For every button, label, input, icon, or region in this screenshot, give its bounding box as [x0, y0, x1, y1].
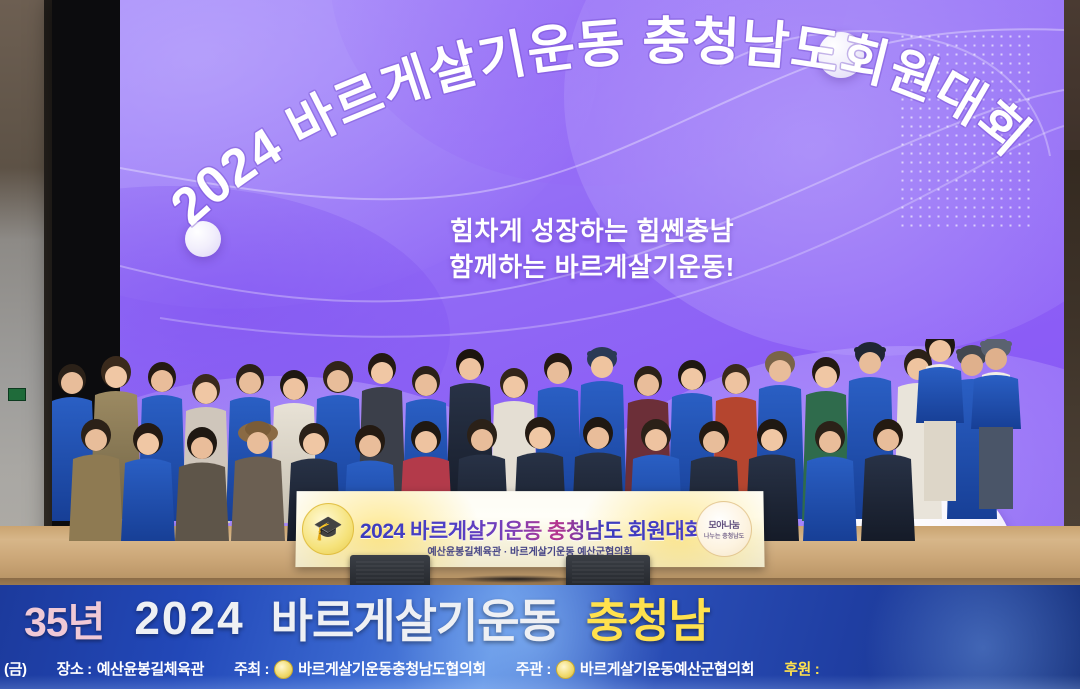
banner-bottom-shine [0, 675, 1080, 689]
stage-monitor-right [566, 555, 650, 589]
exit-sign [8, 388, 26, 401]
stage-monitor-left [350, 555, 430, 589]
anniversary-years: 35년 [24, 588, 104, 648]
stage-cable [455, 575, 575, 583]
screen-subtitle-line-1: 힘차게 성장하는 힘쎈충남 [120, 214, 1064, 250]
province-logo-line-2: 나누는 충청남도 [704, 531, 744, 540]
province-logo: 모아나눔 나누는 충청남도 [696, 501, 753, 557]
province-logo-line-1: 모아나눔 [708, 518, 739, 531]
movement-name: 바르게살기운동 [271, 585, 560, 651]
bottom-event-banner: 35년 2024 바르게살기운동 충청남 (금) 장소 : 예산윤봉길체육관 주… [0, 585, 1080, 689]
screen-subtitle: 힘차게 성장하는 힘쎈충남 함께하는 바르게살기운동! [120, 214, 1064, 286]
region-name: 충청남 [586, 585, 710, 651]
screen-title-text: 2024 바르게살기운동 충청남도회원대회 [160, 13, 1040, 237]
held-banner-title: 2024 바르게살기운동 충청남도 회원대회 [360, 515, 700, 545]
screenshot-root: 2024 바르게살기운동 충청남도회원대회 힘차게 성장하는 힘쎈충남 함께하는… [0, 0, 1080, 689]
screen-subtitle-line-2: 함께하는 바르게살기운동! [120, 250, 1064, 286]
bottom-banner-headline: 35년 2024 바르게살기운동 충청남 [0, 589, 1080, 647]
event-year: 2024 [134, 591, 244, 645]
torch-glyph: 🎓 [313, 517, 343, 541]
